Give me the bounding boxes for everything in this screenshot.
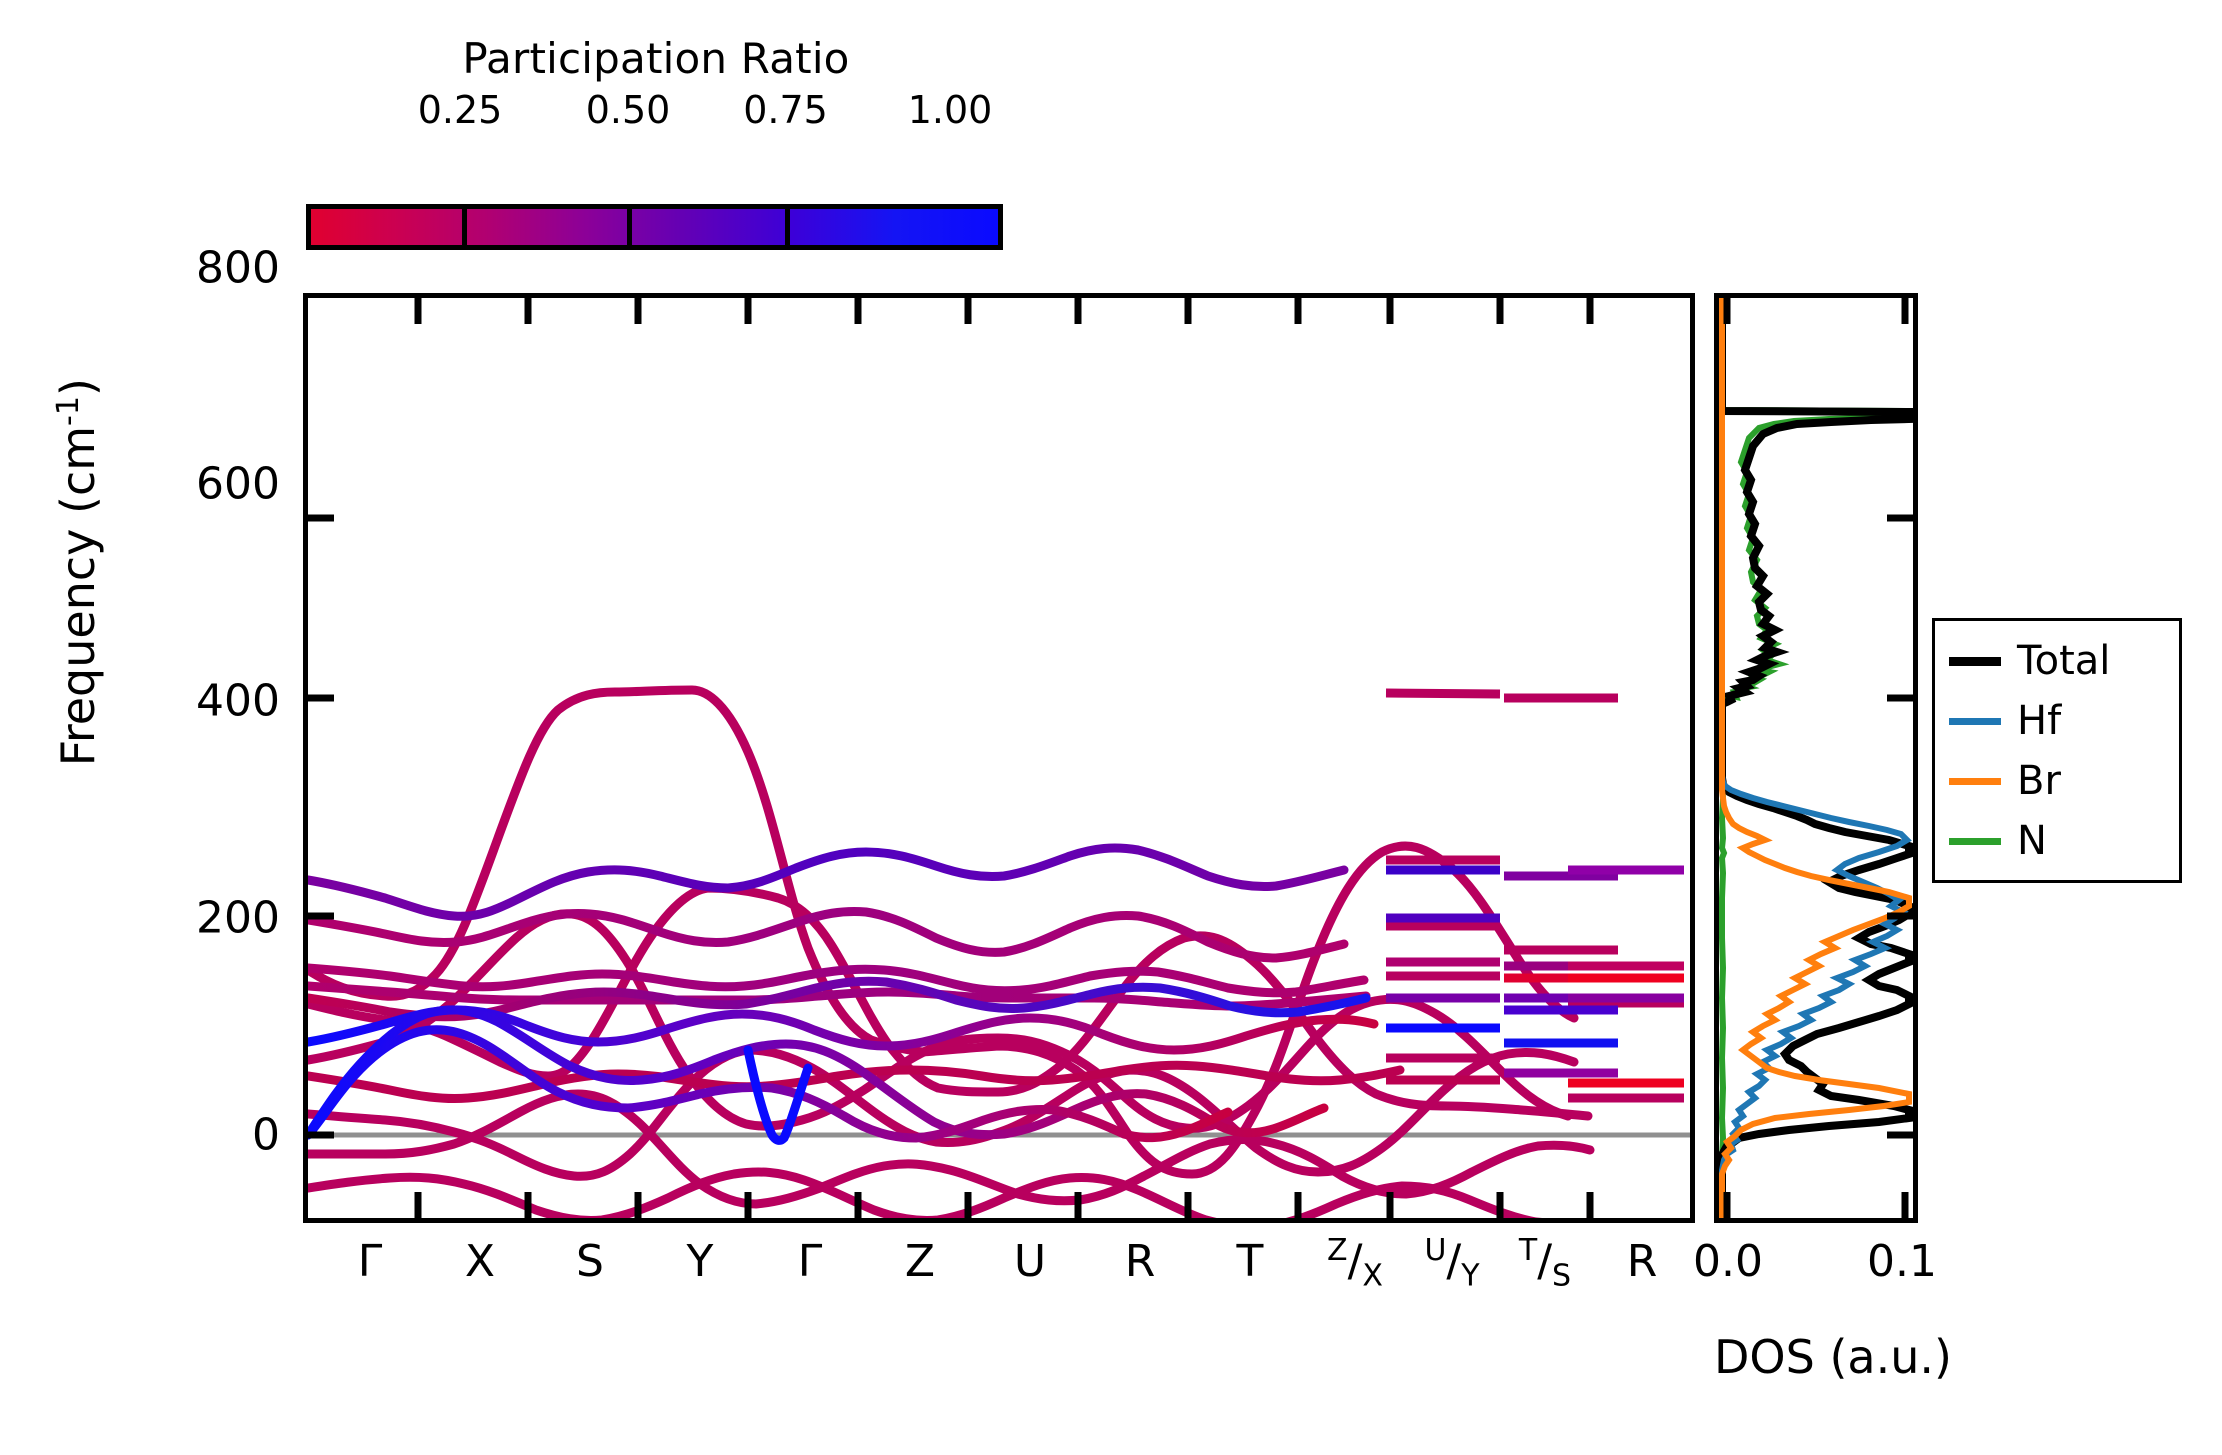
xtick-label-s: S [576,1236,604,1287]
frac-num-z: Z [1327,1233,1348,1268]
xtick-label-u-over-y: U/Y [1424,1236,1479,1292]
frac-den-s: S [1552,1259,1571,1294]
xtick-label-u: U [1014,1236,1046,1287]
dos-x-axis-label: DOS (a.u.) [1714,1330,1918,1384]
frac-den-x: X [1362,1259,1383,1294]
xtick-label-z-over-x: Z/X [1327,1236,1383,1292]
xtick-label-y: Y [687,1236,714,1287]
xtick-label-gamma-1: Γ [358,1236,383,1287]
xtick-label-r-1: R [1125,1236,1156,1287]
x-axis-tick-labels: Γ X S Y Γ Z U R T Z/X U/Y T/S R 0.0 0.1 [0,0,2222,1455]
xtick-label-gamma-2: Γ [798,1236,823,1287]
xtick-label-t: T [1237,1236,1264,1287]
xtick-label-t-over-s: T/S [1519,1236,1571,1292]
frac-num-u: U [1424,1233,1446,1268]
frac-den-y: Y [1461,1259,1479,1294]
dos-xtick-label-1: 0.1 [1867,1236,1937,1287]
xtick-label-x: X [465,1236,495,1287]
figure-canvas: Participation Ratio 0.25 0.50 0.75 1.00 … [0,0,2222,1455]
dos-xtick-label-0: 0.0 [1693,1236,1763,1287]
xtick-label-r-2: R [1627,1236,1658,1287]
xtick-label-z: Z [905,1236,935,1287]
frac-num-t: T [1519,1233,1537,1268]
